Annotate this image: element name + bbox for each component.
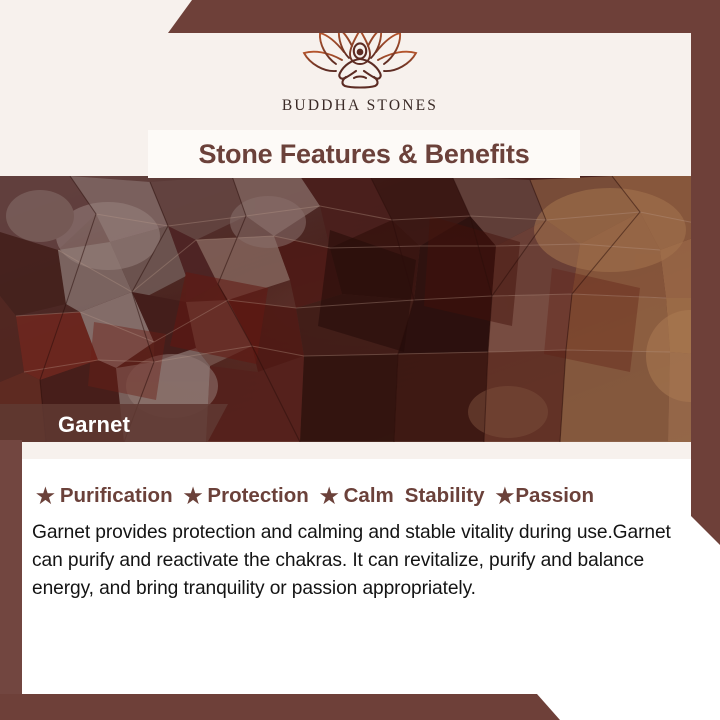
- brand-name: BUDDHA STONES: [282, 97, 438, 115]
- benefit-label: Stability: [405, 484, 485, 508]
- content-top-strip: [22, 442, 691, 459]
- frame-right-bar: [691, 0, 720, 545]
- benefits-list: ★ Purification ★ Protection ★ Calm ★ Sta…: [36, 479, 696, 513]
- star-icon: ★: [36, 486, 55, 507]
- lotus-meditation-figure-icon: [284, 26, 436, 90]
- benefit-label: Purification: [60, 484, 173, 508]
- benefit-item: ★ Passion: [496, 484, 594, 508]
- garnet-crystal-cluster-photo: [0, 176, 720, 442]
- frame-bottom-bar: [0, 694, 720, 720]
- frame-left-bar: [0, 440, 22, 720]
- page-title: Stone Features & Benefits: [198, 139, 529, 170]
- star-icon: ★: [184, 486, 203, 507]
- stone-name-tag: Garnet: [0, 404, 228, 445]
- star-icon: ★: [496, 486, 515, 507]
- brand-logo-block: BUDDHA STONES: [0, 26, 720, 115]
- benefit-item: ★ Calm: [320, 484, 394, 508]
- stone-description: Garnet provides protection and calming a…: [32, 519, 687, 603]
- star-icon: ★: [320, 486, 339, 507]
- benefit-item: ★ Stability: [405, 484, 485, 508]
- stone-name-label: Garnet: [58, 412, 130, 438]
- benefit-label: Calm: [344, 484, 394, 508]
- benefit-item: ★ Purification: [36, 484, 173, 508]
- benefit-item: ★ Protection: [184, 484, 309, 508]
- benefit-label: Passion: [515, 484, 594, 508]
- title-panel: Stone Features & Benefits: [148, 130, 580, 178]
- benefit-label: Protection: [207, 484, 308, 508]
